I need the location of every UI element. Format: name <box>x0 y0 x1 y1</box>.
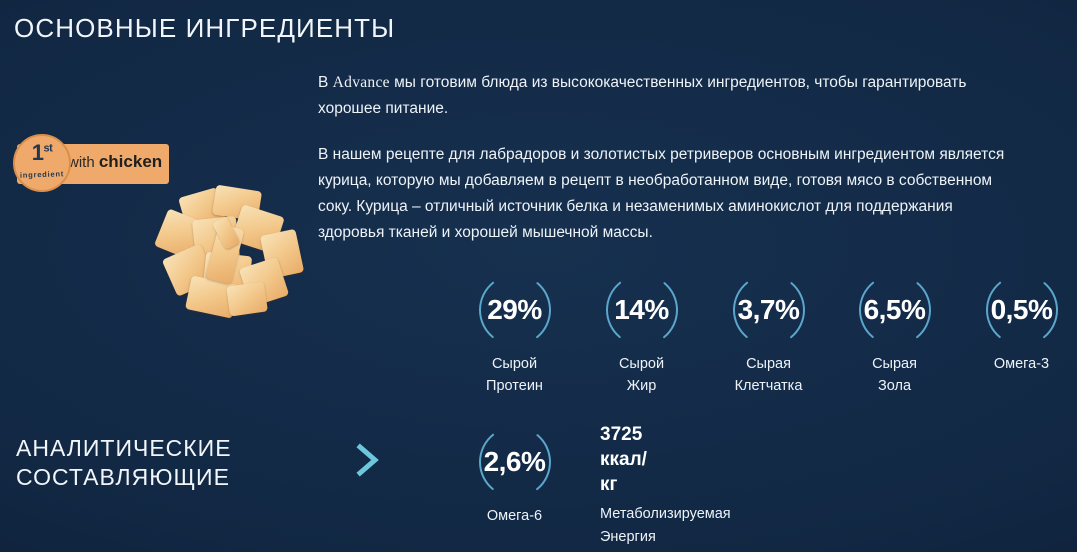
stat-omega-3: 0,5% Омега-3 <box>958 271 1077 375</box>
energy-value-line2: ккал/ <box>600 447 770 472</box>
stat-label-line1: Омега-6 <box>451 505 578 527</box>
copy-block: В Advance мы готовим блюда из высококаче… <box>318 70 1018 266</box>
stat-label-line1: Омега-3 <box>958 353 1077 375</box>
stat-value: 2,6% <box>462 423 568 501</box>
intro-prefix: В <box>318 74 333 91</box>
recipe-paragraph: В нашем рецепте для лабрадоров и золотис… <box>318 142 1018 246</box>
page-title: ОСНОВНЫЕ ИНГРЕДИЕНТЫ <box>14 13 395 44</box>
stat-crude-fibre: 3,7% Сырая Клетчатка <box>705 271 832 397</box>
energy-value-line1: 3725 <box>600 422 770 447</box>
energy-value: 3725 ккал/ кг <box>600 422 770 497</box>
stat-label-line2: Жир <box>578 375 705 397</box>
energy-label: Метаболизируемая Энергия <box>600 503 770 549</box>
chicken-pile-icon <box>158 188 304 318</box>
stat-label-line1: Сырой <box>451 353 578 375</box>
stat-value: 29% <box>462 271 568 349</box>
rank-suffix: st <box>43 143 52 155</box>
intro-paragraph: В Advance мы готовим блюда из высококаче… <box>318 70 1018 122</box>
stat-label-line1: Сырая <box>831 353 958 375</box>
energy-label-line1: Метаболизируемая <box>600 503 770 526</box>
stat-value: 14% <box>589 271 695 349</box>
stat-crude-protein: 29% Сырой Протеин <box>451 271 578 397</box>
analytical-heading: АНАЛИТИЧЕСКИЕ СОСТАВЛЯЮЩИЕ <box>16 434 232 492</box>
metabolisable-energy-block: 3725 ккал/ кг Метаболизируемая Энергия <box>600 422 770 549</box>
ring-crude-fat: 14% <box>603 271 681 349</box>
stat-label-line2: Зола <box>831 375 958 397</box>
ring-crude-ash: 6,5% <box>856 271 934 349</box>
ring-crude-fibre: 3,7% <box>730 271 808 349</box>
analytical-heading-line1: АНАЛИТИЧЕСКИЕ <box>16 434 232 463</box>
stat-omega-6: 2,6% Омега-6 <box>451 423 578 527</box>
ring-crude-protein: 29% <box>476 271 554 349</box>
stat-label-line1: Сырая <box>705 353 832 375</box>
energy-value-line3: кг <box>600 472 770 497</box>
stat-label: Сырая Зола <box>831 353 958 397</box>
ring-omega-6: 2,6% <box>476 423 554 501</box>
ring-omega-3: 0,5% <box>983 271 1061 349</box>
energy-label-line2: Энергия <box>600 526 770 549</box>
with-chicken-label: with chicken <box>68 152 162 172</box>
stat-value: 3,7% <box>716 271 822 349</box>
chevron-right-icon[interactable] <box>350 440 384 480</box>
stat-label: Омега-6 <box>451 505 578 527</box>
stat-label: Сырой Жир <box>578 353 705 397</box>
analytical-heading-line2: СОСТАВЛЯЮЩИЕ <box>16 463 232 492</box>
stat-label: Сырой Протеин <box>451 353 578 397</box>
stat-label: Сырая Клетчатка <box>705 353 832 397</box>
with-chicken-prefix: with <box>68 154 99 171</box>
stat-crude-ash: 6,5% Сырая Зола <box>831 271 958 397</box>
first-ingredient-rank: 1st <box>13 140 71 166</box>
stat-crude-fat: 14% Сырой Жир <box>578 271 705 397</box>
stat-label-line2: Протеин <box>451 375 578 397</box>
stat-value: 0,5% <box>969 271 1075 349</box>
stat-value: 6,5% <box>842 271 948 349</box>
stat-label-line2: Клетчатка <box>705 375 832 397</box>
stat-label: Омега-3 <box>958 353 1077 375</box>
brand-name: Advance <box>333 74 390 91</box>
stat-label-line1: Сырой <box>578 353 705 375</box>
rank-number: 1 <box>32 140 44 165</box>
ingredients-panel: ОСНОВНЫЕ ИНГРЕДИЕНТЫ with chicken 1st in… <box>0 0 1077 552</box>
intro-rest: мы готовим блюда из высококачественных и… <box>318 74 966 117</box>
with-chicken-highlight: chicken <box>99 152 162 171</box>
